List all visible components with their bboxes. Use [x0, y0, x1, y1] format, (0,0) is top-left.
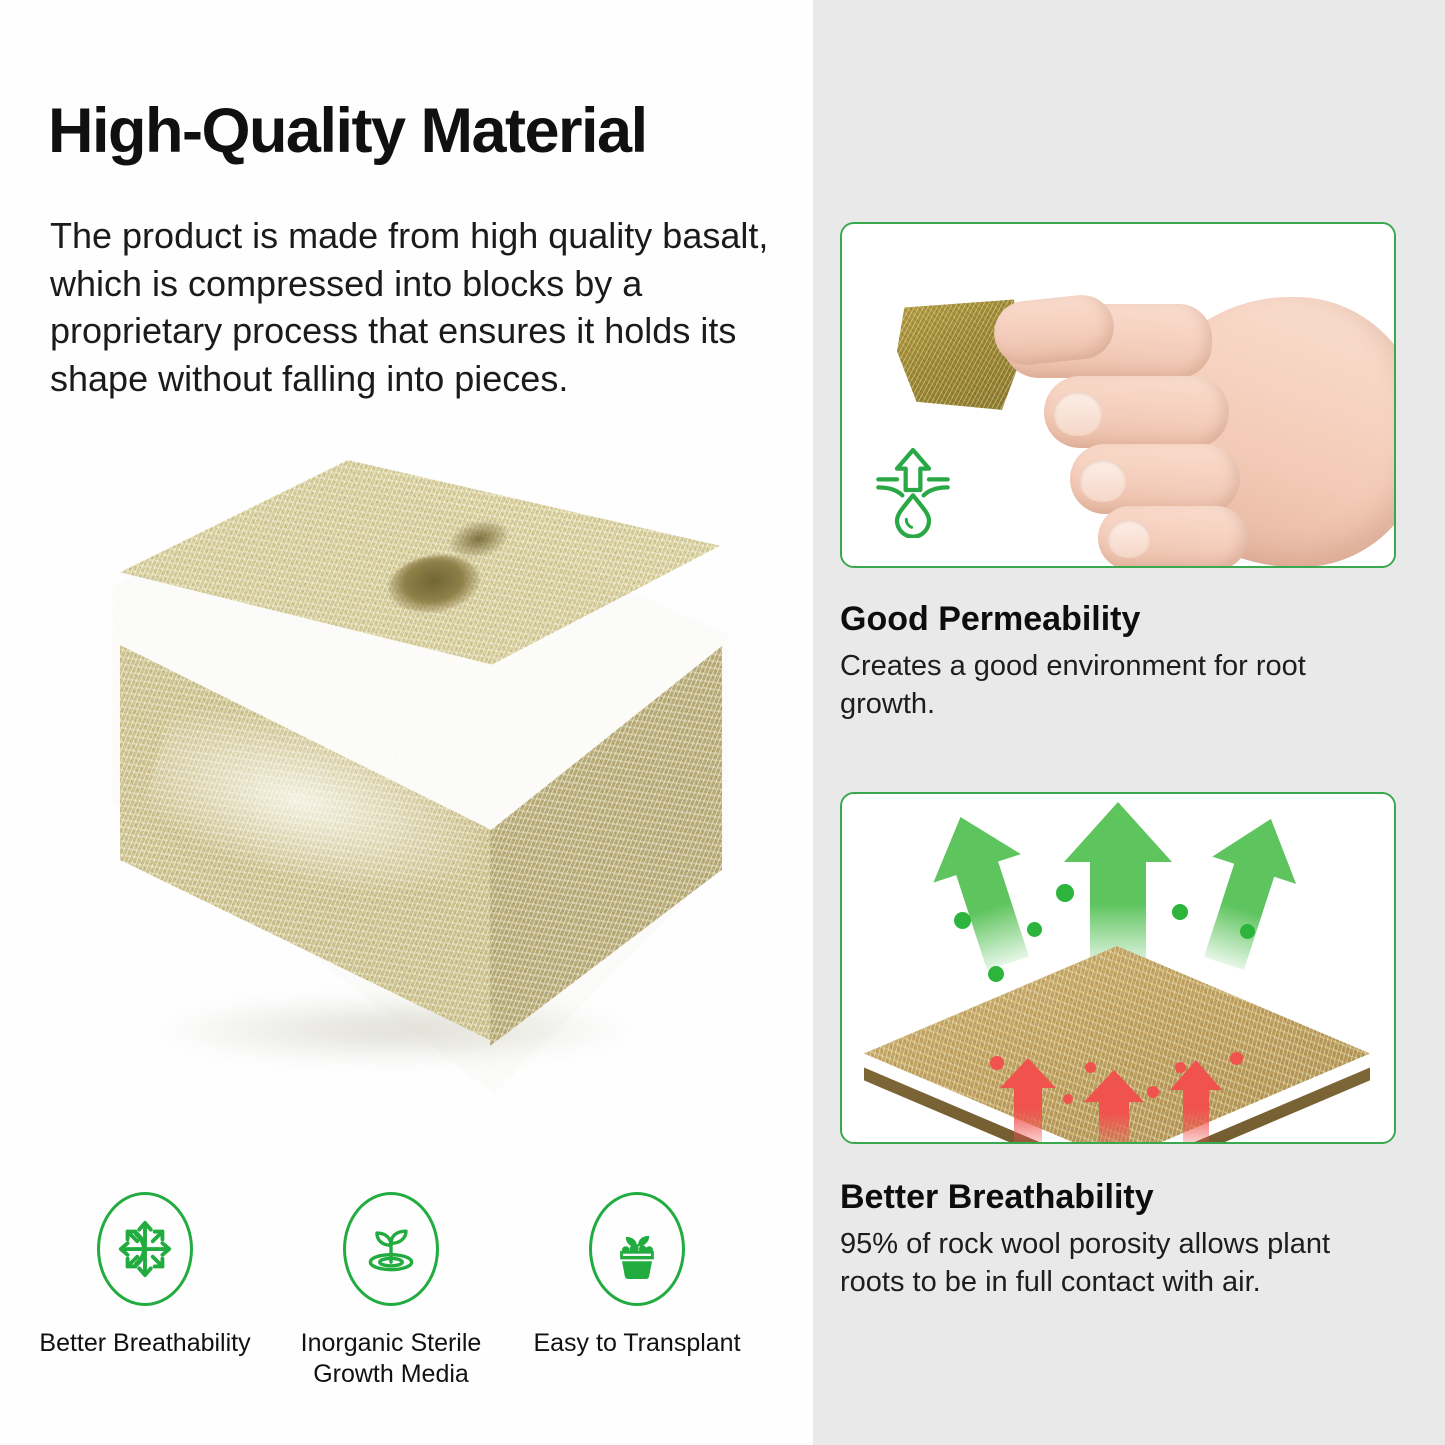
feature-label: Inorganic Sterile Growth Media: [301, 1328, 482, 1389]
red-airflow-arrows: [842, 1052, 1394, 1144]
hand-holding-cube-photo: [842, 224, 1394, 566]
air-particle: [1240, 924, 1255, 939]
air-particle: [1085, 1062, 1096, 1073]
seedling-in-soil-icon: [343, 1192, 439, 1306]
water-permeability-arrow-icon: [870, 442, 956, 538]
breathability-image-card: [840, 792, 1396, 1144]
ring-fingernail: [1080, 460, 1126, 502]
left-column: High-Quality Material The product is mad…: [0, 0, 813, 1445]
air-particle: [1056, 884, 1074, 902]
air-particle: [1147, 1086, 1159, 1098]
permeability-title: Good Permeability: [840, 600, 1140, 639]
feature-item-sterile-media: Inorganic Sterile Growth Media: [268, 1192, 514, 1389]
multi-direction-arrows-icon: [97, 1192, 193, 1306]
air-particle: [990, 1056, 1004, 1070]
infographic-page: High-Quality Material The product is mad…: [0, 0, 1445, 1445]
feature-list: Better Breathability Inorganic Sterile G…: [22, 1192, 792, 1389]
airflow-diagram: [842, 794, 1394, 1142]
little-fingernail: [1108, 520, 1150, 558]
air-particle: [988, 966, 1004, 982]
middle-fingernail: [1054, 392, 1102, 436]
intro-paragraph: The product is made from high quality ba…: [50, 212, 790, 402]
breathability-description: 95% of rock wool porosity allows plant r…: [840, 1226, 1380, 1301]
air-particle: [954, 912, 971, 929]
air-particle: [1027, 922, 1042, 937]
hand-illustration: [992, 252, 1396, 568]
permeability-image-card: [840, 222, 1396, 568]
air-particle: [1230, 1052, 1243, 1065]
potted-plant-icon: [589, 1192, 685, 1306]
permeability-description: Creates a good environment for root grow…: [840, 648, 1380, 723]
air-particle: [1063, 1094, 1073, 1104]
rockwool-cube: [120, 460, 720, 1120]
feature-item-transplant: Easy to Transplant: [514, 1192, 760, 1389]
air-particle: [1175, 1062, 1186, 1073]
feature-label: Better Breathability: [39, 1328, 250, 1359]
breathability-title: Better Breathability: [840, 1178, 1154, 1217]
feature-item-breathability: Better Breathability: [22, 1192, 268, 1389]
right-column: Good Permeability Creates a good environ…: [813, 0, 1445, 1445]
product-photo: [90, 435, 750, 1145]
feature-label: Easy to Transplant: [533, 1328, 740, 1359]
page-title: High-Quality Material: [48, 98, 647, 164]
air-particle: [1172, 904, 1188, 920]
